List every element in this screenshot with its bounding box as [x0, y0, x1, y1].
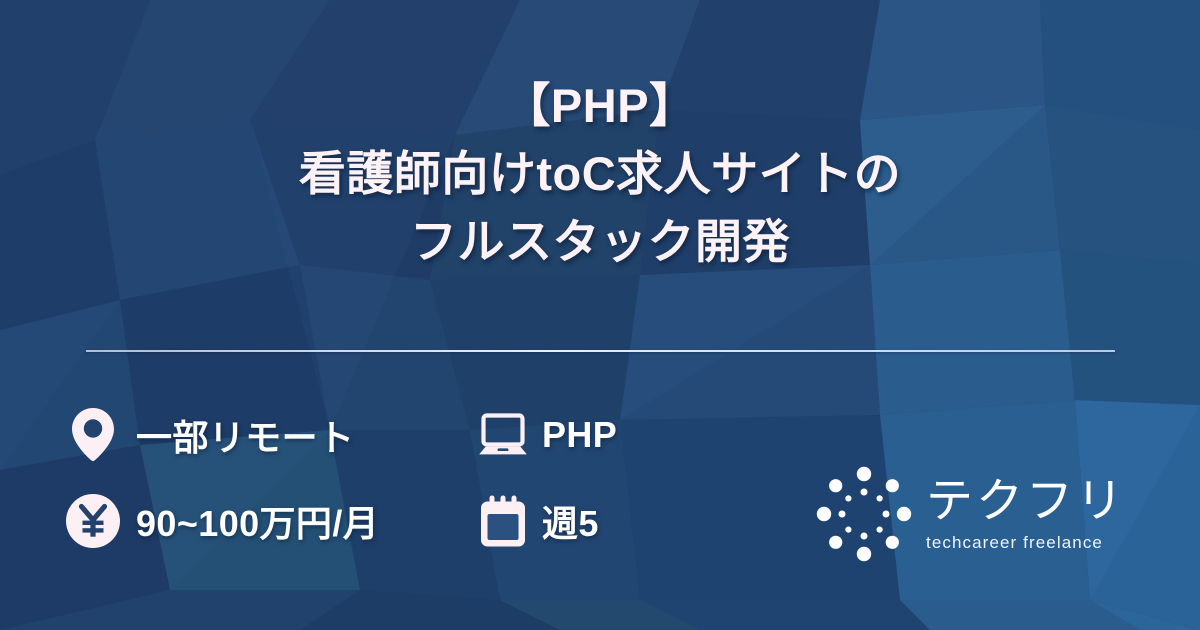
brand-logo: テクフリ techcareer freelance	[812, 462, 1142, 566]
horizontal-divider	[86, 350, 1115, 352]
title-line-1: 看護師向けtoC求人サイトの	[0, 150, 1200, 197]
meta-work-style: 一部リモート	[64, 406, 476, 464]
calendar-icon	[476, 492, 530, 550]
job-meta-grid: 一部リモート PHP	[64, 392, 824, 564]
laptop-icon	[476, 406, 530, 464]
title-block: 【PHP】 看護師向けtoC求人サイトの フルスタック開発	[0, 82, 1200, 265]
meta-days-label: 週5	[542, 495, 599, 547]
meta-pay-label: 90~100万円/月	[136, 495, 379, 547]
meta-skill: PHP	[476, 406, 806, 464]
meta-skill-label: PHP	[542, 414, 617, 456]
dot-cluster-icon	[812, 462, 916, 566]
title-line-2: フルスタック開発	[0, 218, 1200, 265]
brand-name-jp: テクフリ	[926, 477, 1126, 524]
meta-work-style-label: 一部リモート	[136, 409, 354, 461]
meta-row: 一部リモート PHP	[64, 392, 824, 478]
title-tag: 【PHP】	[0, 82, 1200, 129]
job-summary-card: 【PHP】 看護師向けtoC求人サイトの フルスタック開発 一部リモート	[0, 0, 1200, 630]
location-pin-icon	[64, 406, 122, 464]
yen-coin-icon	[64, 492, 122, 550]
brand-name-en: techcareer freelance	[926, 534, 1126, 551]
meta-pay: 90~100万円/月	[64, 492, 476, 550]
brand-logo-text: テクフリ techcareer freelance	[926, 477, 1126, 551]
meta-row: 90~100万円/月 週5	[64, 478, 824, 564]
meta-days: 週5	[476, 492, 806, 550]
